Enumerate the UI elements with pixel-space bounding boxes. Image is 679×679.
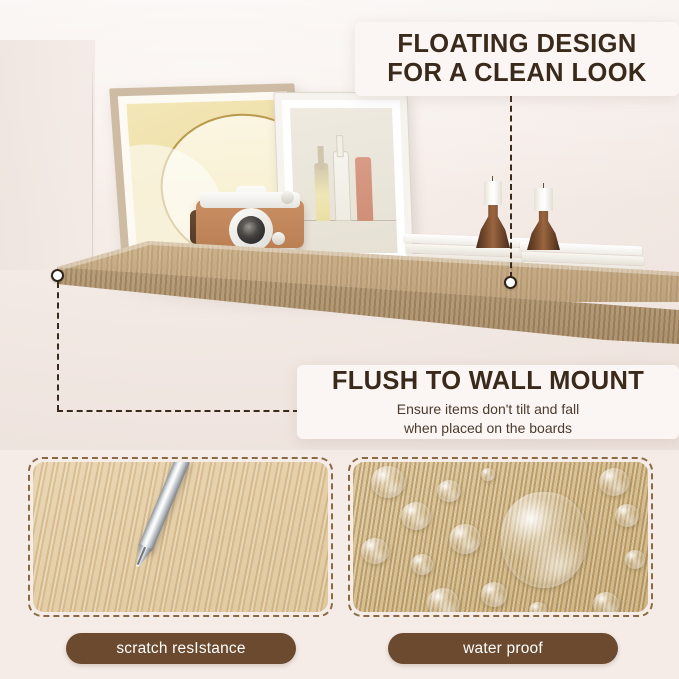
- water-droplet: [593, 592, 619, 612]
- waterproof-card-texture: [353, 462, 648, 612]
- connector-line-top-vertical: [510, 96, 512, 278]
- callout-floating-design: FLOATING DESIGN FOR A CLEAN LOOK: [355, 22, 679, 96]
- water-droplet: [401, 502, 431, 530]
- callout-top-line1: FLOATING DESIGN: [397, 30, 636, 59]
- water-droplet: [615, 504, 639, 527]
- pillar-candle-right: [534, 188, 553, 211]
- water-droplet: [411, 554, 433, 575]
- callout-bottom-subtitle: Ensure items don't tilt and fall when pl…: [397, 400, 579, 437]
- scratch-card-texture: [33, 462, 328, 612]
- callout-top-line2: FOR A CLEAN LOOK: [387, 59, 647, 88]
- connector-dot-shelf-right: [504, 276, 517, 289]
- callout-flush-to-wall-mount: FLUSH TO WALL MOUNT Ensure items don't t…: [297, 365, 679, 439]
- water-droplet: [437, 480, 461, 502]
- water-droplet: [529, 602, 547, 612]
- art-bottle-yellow-neck: [317, 146, 324, 169]
- water-droplet: [625, 550, 645, 569]
- product-feature-infographic: FLOATING DESIGN FOR A CLEAN LOOK FLUSH T…: [0, 0, 679, 679]
- water-droplet: [481, 468, 495, 481]
- candle-wick-left: [492, 176, 493, 181]
- art-bottle-white-neck: [336, 135, 344, 157]
- art-bottle-yellow: [315, 163, 330, 221]
- floating-oak-shelf: [0, 232, 679, 362]
- connector-dot-shelf-left: [51, 269, 64, 282]
- connector-line-bottom-vertical: [57, 282, 59, 411]
- camera-dial: [281, 191, 294, 204]
- water-droplet: [361, 538, 389, 564]
- callout-bottom-sub-line1: Ensure items don't tilt and fall: [397, 400, 579, 418]
- scratch-resistance-label: scratch resIstance: [66, 633, 296, 664]
- callout-bottom-title: FLUSH TO WALL MOUNT: [332, 367, 644, 395]
- water-droplet: [501, 492, 587, 588]
- pillar-candle-left: [484, 181, 502, 205]
- water-droplet: [427, 588, 459, 612]
- candle-wick-right: [543, 183, 544, 188]
- water-proof-label: water proof: [388, 633, 618, 664]
- connector-line-bottom-horizontal: [57, 410, 299, 412]
- art-bottle-white: [332, 151, 351, 221]
- wood-grain-light: [33, 462, 328, 612]
- water-droplet: [481, 582, 507, 607]
- water-droplet: [371, 466, 405, 498]
- scratch-resistance-card: [28, 457, 333, 617]
- callout-bottom-sub-line2: when placed on the boards: [397, 419, 579, 437]
- water-droplet: [449, 524, 481, 554]
- water-droplet: [599, 468, 629, 496]
- water-proof-card: [348, 457, 653, 617]
- art-bottle-terracotta: [355, 157, 373, 221]
